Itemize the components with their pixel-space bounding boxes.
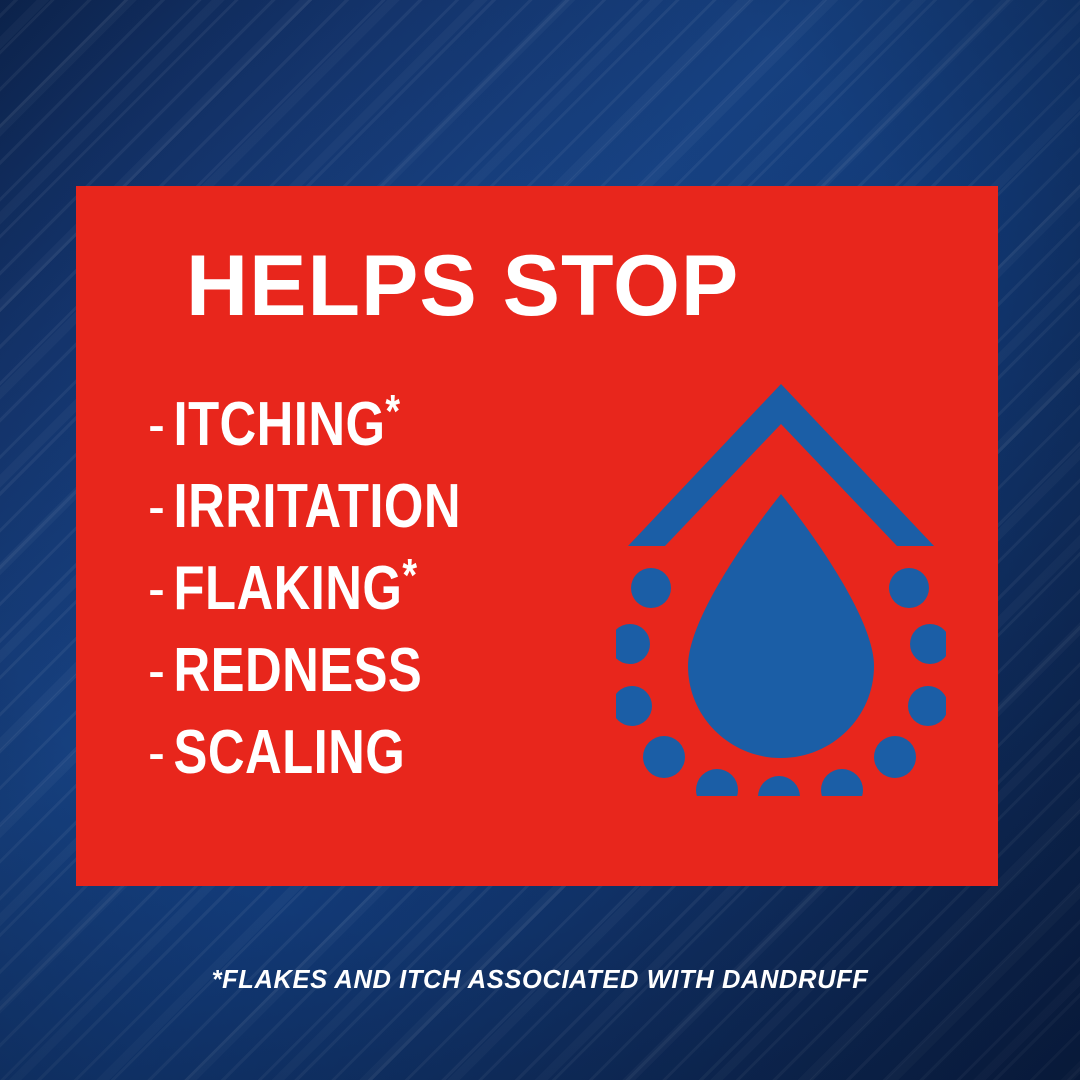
footnote-text: *FLAKES AND ITCH ASSOCIATED WITH DANDRUF… [0,966,1080,995]
list-item-label: ITCHING [174,384,386,466]
list-dash: - [148,384,165,466]
list-dash: - [148,712,165,794]
list-dash: - [148,630,165,712]
list-item: - REDNESS [148,630,501,712]
benefit-list: - ITCHING * - IRRITATION - FLAKING * - R… [148,384,578,794]
list-item-label: FLAKING [174,548,403,630]
poster-canvas: HELPS STOP - ITCHING * - IRRITATION - FL… [0,0,1080,1080]
list-item: - ITCHING * [148,384,501,466]
list-item-label: IRRITATION [174,466,461,548]
list-item-asterisk: * [402,552,417,598]
list-dash: - [148,466,165,548]
list-item-label: REDNESS [174,630,423,712]
red-content-card: HELPS STOP - ITCHING * - IRRITATION - FL… [76,186,998,886]
list-item: - SCALING [148,712,501,794]
list-dash: - [148,548,165,630]
headline-text: HELPS STOP [186,242,739,330]
list-item-asterisk: * [385,388,400,434]
list-item-label: SCALING [174,712,406,794]
droplet-with-chevron-and-dots-icon [616,376,946,796]
list-item: - FLAKING * [148,548,501,630]
list-item: - IRRITATION [148,466,501,548]
